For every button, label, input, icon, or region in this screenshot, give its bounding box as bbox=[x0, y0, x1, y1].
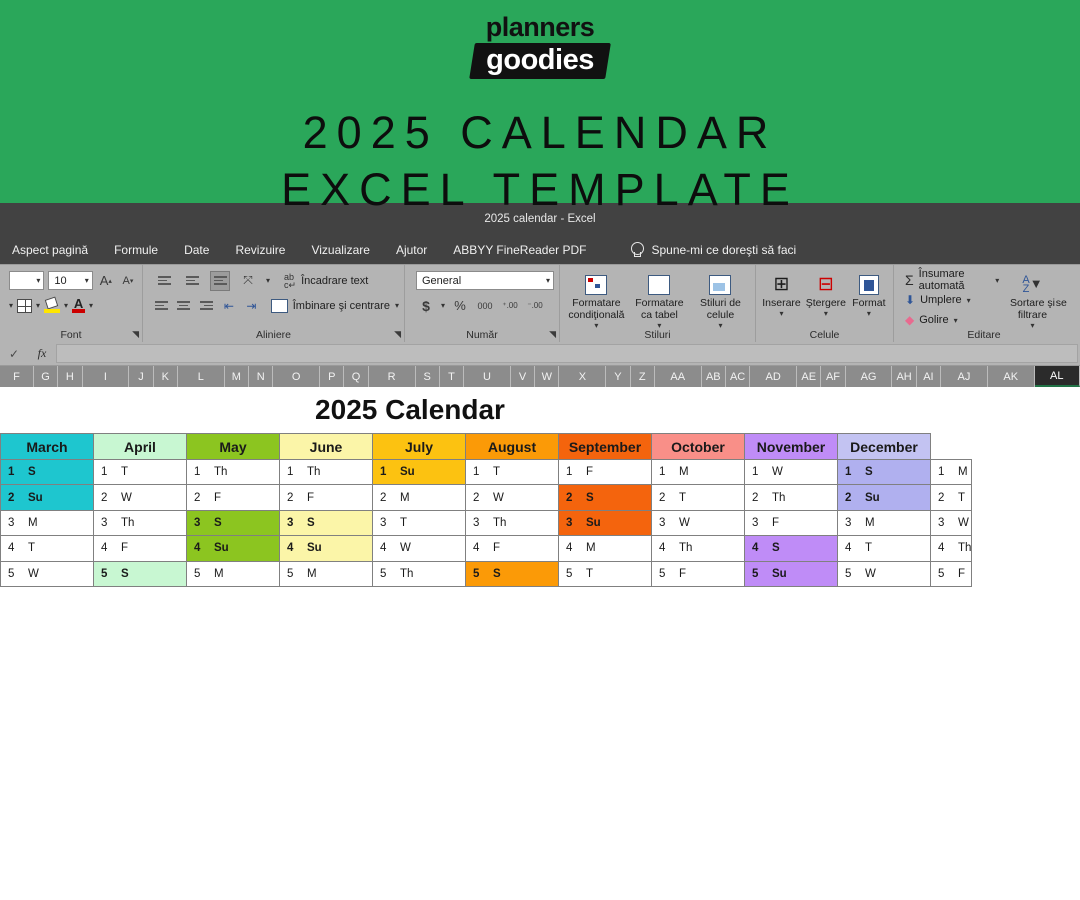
calendar-cell[interactable]: 4Su bbox=[280, 536, 373, 561]
ribbon-tab-bar: Aspect pagină Formule Date Revizuire Viz… bbox=[0, 235, 1080, 264]
calendar-cell[interactable]: 2Su bbox=[1, 485, 94, 510]
column-header-x[interactable]: X bbox=[559, 366, 606, 387]
ribbon-body: ▾ 10▾ A▴ A▾ ▾ ▾ ▾ A▾ Font ◥ ⤧▾ bbox=[0, 264, 1080, 342]
insert-cells-button[interactable]: ⊞ Inserare ▾ bbox=[761, 270, 802, 319]
calendar-cell[interactable]: 2Su bbox=[838, 485, 931, 510]
orientation-chevron-icon[interactable]: ▾ bbox=[266, 276, 270, 285]
tell-me-search[interactable]: Spune-mi ce doreşti să faci bbox=[630, 242, 796, 257]
month-header-september[interactable]: September bbox=[559, 434, 652, 460]
calendar-cell[interactable]: 5Su bbox=[745, 561, 838, 586]
month-header-december[interactable]: December bbox=[838, 434, 931, 460]
calendar-cell[interactable]: 3S bbox=[187, 510, 280, 535]
calendar-cell[interactable]: 3M bbox=[1, 510, 94, 535]
column-header-row: FGHIJKLMNOPQRSTUVWXYZAAABACADAEAFAGAHAIA… bbox=[0, 366, 1080, 387]
column-header-af[interactable]: AF bbox=[821, 366, 845, 387]
calendar-cell[interactable]: 2T bbox=[652, 485, 745, 510]
font-dialog-launcher-icon[interactable]: ◥ bbox=[132, 329, 139, 340]
merge-center-chevron-icon[interactable]: ▾ bbox=[395, 301, 399, 310]
insert-cells-chevron-icon[interactable]: ▾ bbox=[779, 310, 783, 319]
ribbon-group-styles: Formatare condiţională ▾ Formatare ca ta… bbox=[559, 265, 755, 342]
formula-bar: ✓ fx bbox=[0, 342, 1080, 366]
tell-me-label: Spune-mi ce doreşti să faci bbox=[651, 243, 796, 257]
alignment-dialog-launcher-icon[interactable]: ◥ bbox=[394, 329, 401, 340]
bold-italic-underline-more-icon[interactable]: ▾ bbox=[9, 301, 13, 310]
format-cells-label: Format bbox=[852, 298, 885, 310]
decrease-indent-icon[interactable]: ⇤ bbox=[222, 296, 237, 316]
tab-ajutor[interactable]: Ajutor bbox=[396, 243, 427, 257]
merge-center-icon bbox=[271, 299, 288, 313]
ribbon-group-label-editing: Editare bbox=[894, 329, 1074, 341]
formula-input[interactable] bbox=[56, 344, 1078, 363]
calendar-cell[interactable]: 3Th bbox=[94, 510, 187, 535]
calendar-cell[interactable]: 1Th bbox=[187, 460, 280, 485]
align-middle-icon[interactable] bbox=[182, 271, 202, 291]
brand-logo-top: planners bbox=[486, 14, 595, 41]
calendar-cell[interactable]: 1T bbox=[466, 460, 559, 485]
align-right-icon[interactable] bbox=[199, 296, 214, 316]
calendar-cell[interactable]: 1F bbox=[559, 460, 652, 485]
sigma-icon: Σ bbox=[905, 272, 914, 288]
ribbon-group-editing: Σ Însumare automată ▾ ⬇ Umplere ▾ ◆ Goli… bbox=[893, 265, 1080, 342]
calendar-cell[interactable]: 1Th bbox=[280, 460, 373, 485]
font-color-icon[interactable]: A bbox=[72, 299, 85, 313]
column-header-y[interactable]: Y bbox=[606, 366, 630, 387]
conditional-formatting-icon bbox=[585, 271, 607, 298]
column-header-ad[interactable]: AD bbox=[750, 366, 797, 387]
calendar-month-header-row: ruaryMarchAprilMayJuneJulyAugustSeptembe… bbox=[0, 434, 972, 460]
month-header-june[interactable]: June bbox=[280, 434, 373, 460]
calendar-cell[interactable]: 4T bbox=[1, 536, 94, 561]
calendar-cell[interactable]: 2W bbox=[466, 485, 559, 510]
tab-abbyy-finereader[interactable]: ABBYY FineReader PDF bbox=[453, 243, 586, 257]
calendar-cell[interactable]: 4F bbox=[94, 536, 187, 561]
column-header-i[interactable]: I bbox=[83, 366, 130, 387]
merge-center-label: Îmbinare şi centrare bbox=[293, 300, 390, 312]
month-header-march[interactable]: March bbox=[1, 434, 94, 460]
increase-indent-icon[interactable]: ⇥ bbox=[244, 296, 259, 316]
wrap-text-label: Încadrare text bbox=[301, 275, 368, 287]
column-header-l[interactable]: L bbox=[178, 366, 225, 387]
tab-vizualizare[interactable]: Vizualizare bbox=[311, 243, 369, 257]
increase-font-size-icon[interactable]: A▴ bbox=[97, 271, 115, 291]
number-format-value: General bbox=[422, 275, 461, 287]
column-header-ac[interactable]: AC bbox=[726, 366, 750, 387]
calendar-cell[interactable]: 1M bbox=[652, 460, 745, 485]
autosum-chevron-icon[interactable]: ▾ bbox=[995, 276, 999, 285]
number-dialog-launcher-icon[interactable]: ◥ bbox=[549, 329, 556, 340]
calendar-cell[interactable]: 5F bbox=[652, 561, 745, 586]
promo-title: 2025 CALENDAR EXCEL TEMPLATE bbox=[281, 105, 799, 218]
percent-style-icon[interactable]: % bbox=[450, 296, 470, 316]
calendar-cell[interactable]: 4Su bbox=[187, 536, 280, 561]
calendar-cell[interactable]: 3Su bbox=[559, 510, 652, 535]
ribbon-group-font: ▾ 10▾ A▴ A▾ ▾ ▾ ▾ A▾ Font ◥ bbox=[0, 265, 142, 342]
sort-filter-button[interactable]: AZ▼ Sortare şi filtrare ▾ bbox=[1009, 270, 1056, 330]
orientation-icon[interactable]: ⤧ bbox=[238, 271, 258, 291]
tab-aspect-pagina[interactable]: Aspect pagină bbox=[12, 243, 88, 257]
conditional-formatting-button[interactable]: Formatare condiţională ▾ bbox=[565, 270, 628, 330]
column-header-z[interactable]: Z bbox=[631, 366, 655, 387]
comma-style-icon[interactable]: 000 bbox=[475, 296, 495, 316]
calendar-cell[interactable]: 5T bbox=[559, 561, 652, 586]
column-header-j[interactable]: J bbox=[129, 366, 153, 387]
spreadsheet-grid: 2025 Calendar ruaryMarchAprilMayJuneJuly… bbox=[0, 387, 1080, 885]
calendar-cell[interactable]: 3W bbox=[652, 510, 745, 535]
column-header-aj[interactable]: AJ bbox=[941, 366, 988, 387]
fill-label: Umplere bbox=[920, 294, 962, 306]
calendar-cell[interactable]: 1W bbox=[745, 460, 838, 485]
calendar-cell[interactable]: 5W bbox=[838, 561, 931, 586]
calendar-cell[interactable]: 5M bbox=[280, 561, 373, 586]
calendar-cell[interactable]: 5M bbox=[187, 561, 280, 586]
format-cells-icon bbox=[859, 271, 879, 298]
column-header-t[interactable]: T bbox=[440, 366, 464, 387]
fill-chevron-icon[interactable]: ▾ bbox=[967, 296, 971, 305]
column-header-m[interactable]: M bbox=[225, 366, 249, 387]
column-header-ae[interactable]: AE bbox=[797, 366, 821, 387]
confirm-entry-icon[interactable]: ✓ bbox=[0, 347, 28, 361]
clear-button[interactable]: ◆ Golire ▾ bbox=[905, 310, 999, 330]
calendar-cell[interactable]: 5W bbox=[1, 561, 94, 586]
delete-cells-button[interactable]: ⊟ Ştergere ▾ bbox=[804, 270, 848, 319]
insert-function-icon[interactable]: fx bbox=[28, 346, 56, 361]
delete-cells-chevron-icon[interactable]: ▾ bbox=[824, 310, 828, 319]
brand-logo-bottom: goodies bbox=[486, 45, 594, 75]
column-header-k[interactable]: K bbox=[154, 366, 178, 387]
column-header-p[interactable]: P bbox=[320, 366, 344, 387]
tab-revizuire[interactable]: Revizuire bbox=[235, 243, 285, 257]
column-header-f[interactable]: F bbox=[0, 366, 34, 387]
calendar-cell[interactable]: 4W bbox=[373, 536, 466, 561]
month-header-april[interactable]: April bbox=[94, 434, 187, 460]
clear-chevron-icon[interactable]: ▾ bbox=[954, 316, 958, 325]
calendar-row: 4T4F4Su4Su4W4F4M4Th4S4T4Th bbox=[0, 536, 972, 561]
calendar-cell[interactable]: 4F bbox=[466, 536, 559, 561]
fill-color-chevron-icon[interactable]: ▾ bbox=[64, 301, 68, 310]
column-header-u[interactable]: U bbox=[464, 366, 511, 387]
column-header-n[interactable]: N bbox=[249, 366, 273, 387]
tab-formule[interactable]: Formule bbox=[114, 243, 158, 257]
eraser-icon: ◆ bbox=[905, 313, 914, 327]
month-header-october[interactable]: October bbox=[652, 434, 745, 460]
column-header-ag[interactable]: AG bbox=[846, 366, 893, 387]
font-name-box[interactable]: ▾ bbox=[9, 271, 44, 290]
calendar-cell[interactable]: 4M bbox=[559, 536, 652, 561]
calendar-row: 1S1T1Th1Th1Su1T1F1M1W1S1M bbox=[0, 460, 972, 485]
borders-icon[interactable] bbox=[17, 299, 32, 313]
calendar-cell[interactable]: 2S bbox=[559, 485, 652, 510]
lightbulb-icon bbox=[630, 242, 643, 257]
calendar-cell[interactable]: 3Th bbox=[466, 510, 559, 535]
align-top-icon[interactable] bbox=[154, 271, 174, 291]
promo-title-line1: 2025 CALENDAR bbox=[303, 107, 778, 158]
align-left-icon[interactable] bbox=[154, 296, 169, 316]
calendar-cell[interactable]: 5S bbox=[466, 561, 559, 586]
brand-logo-banner: goodies bbox=[469, 43, 610, 79]
increase-decimal-icon[interactable]: ⁺.00 bbox=[500, 296, 520, 316]
column-header-w[interactable]: W bbox=[535, 366, 559, 387]
month-header-july[interactable]: July bbox=[373, 434, 466, 460]
calendar-cell[interactable]: 5F bbox=[931, 561, 972, 586]
cell-styles-label: Stiluri de celule bbox=[691, 298, 750, 322]
ribbon-group-alignment: ⤧▾ abc↵ Încadrare text ⇤ ⇥ Îmbinare şi c… bbox=[142, 265, 404, 342]
calendar-cell[interactable]: 3T bbox=[373, 510, 466, 535]
column-header-ai[interactable]: AI bbox=[917, 366, 941, 387]
wrap-text-icon: abc↵ bbox=[284, 273, 296, 289]
calendar-cell[interactable]: 4Th bbox=[931, 536, 972, 561]
decrease-font-size-icon[interactable]: A▾ bbox=[119, 271, 137, 291]
find-select-icon bbox=[1056, 271, 1061, 298]
promo-banner: planners goodies 2025 CALENDAR EXCEL TEM… bbox=[0, 0, 1080, 203]
align-center-icon[interactable] bbox=[177, 296, 192, 316]
merge-center-button[interactable]: Îmbinare şi centrare ▾ bbox=[271, 299, 399, 313]
calendar-cell[interactable]: 2F bbox=[187, 485, 280, 510]
calendar-row: 2Su2W2F2F2M2W2S2T2Th2Su2T bbox=[0, 485, 972, 510]
calendar-cell[interactable]: 3F bbox=[745, 510, 838, 535]
ribbon-group-label-number: Număr bbox=[405, 329, 559, 341]
insert-cells-label: Inserare bbox=[762, 298, 801, 310]
ribbon-group-number: General▾ $▾ % 000 ⁺.00 ⁻.00 Număr ◥ bbox=[404, 265, 559, 342]
font-size-box[interactable]: 10▾ bbox=[48, 271, 92, 290]
autosum-label: Însumare automată bbox=[919, 268, 991, 292]
month-header-may[interactable]: May bbox=[187, 434, 280, 460]
column-header-h[interactable]: H bbox=[58, 366, 82, 387]
column-header-g[interactable]: G bbox=[34, 366, 58, 387]
fill-down-icon: ⬇ bbox=[905, 293, 915, 307]
calendar-cell[interactable]: 3S bbox=[280, 510, 373, 535]
calendar-cell[interactable]: 1Su bbox=[373, 460, 466, 485]
conditional-formatting-label: Formatare condiţională bbox=[565, 298, 628, 322]
ribbon-group-label-styles: Stiluri bbox=[560, 329, 755, 341]
fill-color-icon[interactable] bbox=[44, 298, 60, 313]
promo-title-line2: EXCEL TEMPLATE bbox=[281, 162, 799, 218]
calendar-cell[interactable]: 5Th bbox=[373, 561, 466, 586]
format-cells-chevron-icon[interactable]: ▾ bbox=[867, 310, 871, 319]
column-header-r[interactable]: R bbox=[369, 366, 416, 387]
autosum-button[interactable]: Σ Însumare automată ▾ bbox=[905, 270, 999, 290]
format-as-table-button[interactable]: Formatare ca tabel ▾ bbox=[630, 270, 689, 330]
calendar-cell[interactable]: 1S bbox=[1, 460, 94, 485]
column-header-v[interactable]: V bbox=[511, 366, 535, 387]
delete-cells-icon: ⊟ bbox=[818, 271, 834, 298]
insert-cells-icon: ⊞ bbox=[774, 271, 790, 298]
calendar-table: ruaryMarchAprilMayJuneJulyAugustSeptembe… bbox=[0, 433, 972, 587]
calendar-row: 3M3Th3S3S3T3Th3Su3W3F3M3W bbox=[0, 510, 972, 535]
cell-styles-button[interactable]: Stiluri de celule ▾ bbox=[691, 270, 750, 330]
column-header-ak[interactable]: AK bbox=[988, 366, 1035, 387]
calendar-cell[interactable]: 2Th bbox=[745, 485, 838, 510]
fill-button[interactable]: ⬇ Umplere ▾ bbox=[905, 290, 999, 310]
calendar-cell[interactable]: 1T bbox=[94, 460, 187, 485]
ribbon-group-label-cells: Celule bbox=[756, 329, 893, 341]
calendar-cell[interactable]: 3W bbox=[931, 510, 972, 535]
find-select-button[interactable]: se bbox=[1056, 270, 1075, 330]
format-cells-button[interactable]: Format ▾ bbox=[850, 270, 888, 319]
ribbon-group-cells: ⊞ Inserare ▾ ⊟ Ştergere ▾ Format ▾ Celul… bbox=[755, 265, 893, 342]
calendar-row: 5W5S5M5M5Th5S5T5F5Su5W5F bbox=[0, 561, 972, 586]
currency-icon[interactable]: $ bbox=[416, 296, 436, 316]
find-select-label: se bbox=[1056, 298, 1067, 310]
column-header-o[interactable]: O bbox=[273, 366, 320, 387]
ribbon-group-label-alignment: Aliniere bbox=[143, 329, 404, 341]
column-header-aa[interactable]: AA bbox=[655, 366, 702, 387]
column-header-s[interactable]: S bbox=[416, 366, 440, 387]
calendar-cell[interactable]: 2F bbox=[280, 485, 373, 510]
wrap-text-button[interactable]: abc↵ Încadrare text bbox=[284, 273, 368, 289]
currency-chevron-icon[interactable]: ▾ bbox=[441, 301, 445, 310]
column-header-ah[interactable]: AH bbox=[892, 366, 916, 387]
font-color-chevron-icon[interactable]: ▾ bbox=[89, 301, 93, 310]
excel-window: 2025 calendar - Excel Aspect pagină Form… bbox=[0, 203, 1080, 387]
clear-label: Golire bbox=[919, 314, 948, 326]
ribbon-group-label-font: Font bbox=[0, 329, 142, 341]
calendar-cell[interactable]: 4Th bbox=[652, 536, 745, 561]
calendar-cell[interactable]: 5S bbox=[94, 561, 187, 586]
calendar-cell[interactable]: 2M bbox=[373, 485, 466, 510]
sheet-title: 2025 Calendar bbox=[0, 387, 1080, 433]
calendar-cell[interactable]: 2W bbox=[94, 485, 187, 510]
calendar-cell[interactable]: 4S bbox=[745, 536, 838, 561]
tab-date[interactable]: Date bbox=[184, 243, 209, 257]
calendar-cell[interactable]: 1M bbox=[931, 460, 972, 485]
column-header-al[interactable]: AL bbox=[1035, 366, 1080, 387]
cell-styles-icon bbox=[709, 271, 731, 298]
column-header-q[interactable]: Q bbox=[344, 366, 368, 387]
calendar-cell[interactable]: 3M bbox=[838, 510, 931, 535]
sort-filter-label: Sortare şi filtrare bbox=[1009, 298, 1056, 322]
font-size-value: 10 bbox=[54, 275, 66, 287]
column-header-ab[interactable]: AB bbox=[702, 366, 726, 387]
calendar-cell[interactable]: 4T bbox=[838, 536, 931, 561]
format-as-table-icon bbox=[648, 271, 670, 298]
month-header-november[interactable]: November bbox=[745, 434, 838, 460]
align-bottom-icon[interactable] bbox=[210, 271, 230, 291]
decrease-decimal-icon[interactable]: ⁻.00 bbox=[525, 296, 545, 316]
calendar-cell[interactable]: 2T bbox=[931, 485, 972, 510]
borders-chevron-icon[interactable]: ▾ bbox=[36, 301, 40, 310]
month-header-august[interactable]: August bbox=[466, 434, 559, 460]
number-format-box[interactable]: General▾ bbox=[416, 271, 554, 290]
sort-filter-icon: AZ▼ bbox=[1022, 271, 1042, 298]
delete-cells-label: Ştergere bbox=[806, 298, 846, 310]
brand-logo: planners goodies bbox=[472, 14, 608, 79]
calendar-cell[interactable]: 1S bbox=[838, 460, 931, 485]
format-as-table-label: Formatare ca tabel bbox=[630, 298, 689, 322]
calendar-body: 1S1T1Th1Th1Su1T1F1M1W1S1M2Su2W2F2F2M2W2S… bbox=[0, 460, 972, 587]
